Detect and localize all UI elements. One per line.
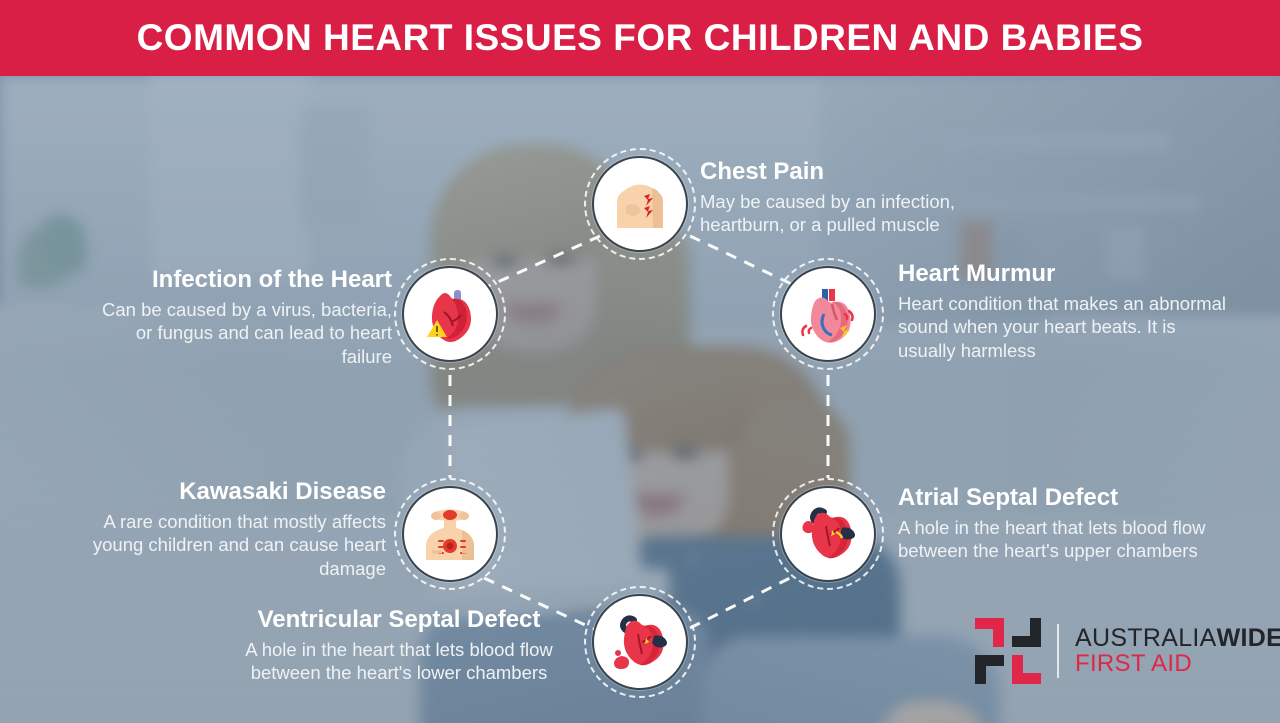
node-title-chest-pain: Chest Pain	[700, 158, 1030, 186]
australia-wide-cross-logo-icon	[975, 618, 1041, 684]
line-vsd-to-asd	[690, 576, 794, 628]
heart-defect-icon	[796, 502, 860, 566]
text-block-kawasaki: Kawasaki Disease A rare condition that m…	[90, 478, 386, 581]
heart-defect-lower-icon	[608, 610, 672, 674]
node-desc-asd: A hole in the heart that lets blood flow…	[898, 516, 1218, 563]
node-desc-infection: Can be caused by a virus, bacteria, or f…	[90, 298, 392, 369]
page-title: COMMON HEART ISSUES FOR CHILDREN AND BAB…	[137, 17, 1144, 59]
logo-line-1: AUSTRALIAWIDE	[1075, 626, 1280, 652]
text-block-infection: Infection of the Heart Can be caused by …	[90, 266, 392, 369]
text-block-vsd: Ventricular Septal Defect A hole in the …	[215, 606, 583, 685]
text-block-heart-murmur: Heart Murmur Heart condition that makes …	[898, 260, 1228, 363]
child-torso-rash-icon	[418, 502, 482, 566]
logo-line-2: FIRST AID	[1075, 652, 1280, 676]
icon-circle-heart-murmur[interactable]	[780, 266, 876, 362]
node-title-kawasaki: Kawasaki Disease	[90, 478, 386, 506]
icon-circle-asd[interactable]	[780, 486, 876, 582]
node-desc-chest-pain: May be caused by an infection, heartburn…	[700, 190, 1030, 237]
text-block-chest-pain: Chest Pain May be caused by an infection…	[700, 158, 1030, 237]
node-title-vsd: Ventricular Septal Defect	[215, 606, 583, 634]
header-banner: COMMON HEART ISSUES FOR CHILDREN AND BAB…	[0, 0, 1280, 76]
node-title-asd: Atrial Septal Defect	[898, 484, 1218, 512]
heart-sound-waves-icon	[796, 282, 860, 346]
node-desc-kawasaki: A rare condition that mostly affects you…	[90, 510, 386, 581]
icon-circle-vsd[interactable]	[592, 594, 688, 690]
icon-circle-infection[interactable]	[402, 266, 498, 362]
line-chest-to-infection	[480, 236, 600, 290]
node-desc-heart-murmur: Heart condition that makes an abnormal s…	[898, 292, 1228, 363]
text-block-asd: Atrial Septal Defect A hole in the heart…	[898, 484, 1218, 563]
node-title-heart-murmur: Heart Murmur	[898, 260, 1228, 288]
brand-logo[interactable]: AUSTRALIAWIDE FIRST AID	[975, 618, 1280, 684]
logo-divider	[1057, 624, 1059, 678]
heart-warning-icon	[418, 282, 482, 346]
node-desc-vsd: A hole in the heart that lets blood flow…	[215, 638, 583, 685]
logo-word-wide: WIDE	[1217, 624, 1280, 652]
node-title-infection: Infection of the Heart	[90, 266, 392, 294]
icon-circle-chest-pain[interactable]	[592, 156, 688, 252]
torso-chest-pain-icon	[608, 172, 672, 236]
logo-word-australia: AUSTRALIA	[1075, 624, 1217, 652]
icon-circle-kawasaki[interactable]	[402, 486, 498, 582]
